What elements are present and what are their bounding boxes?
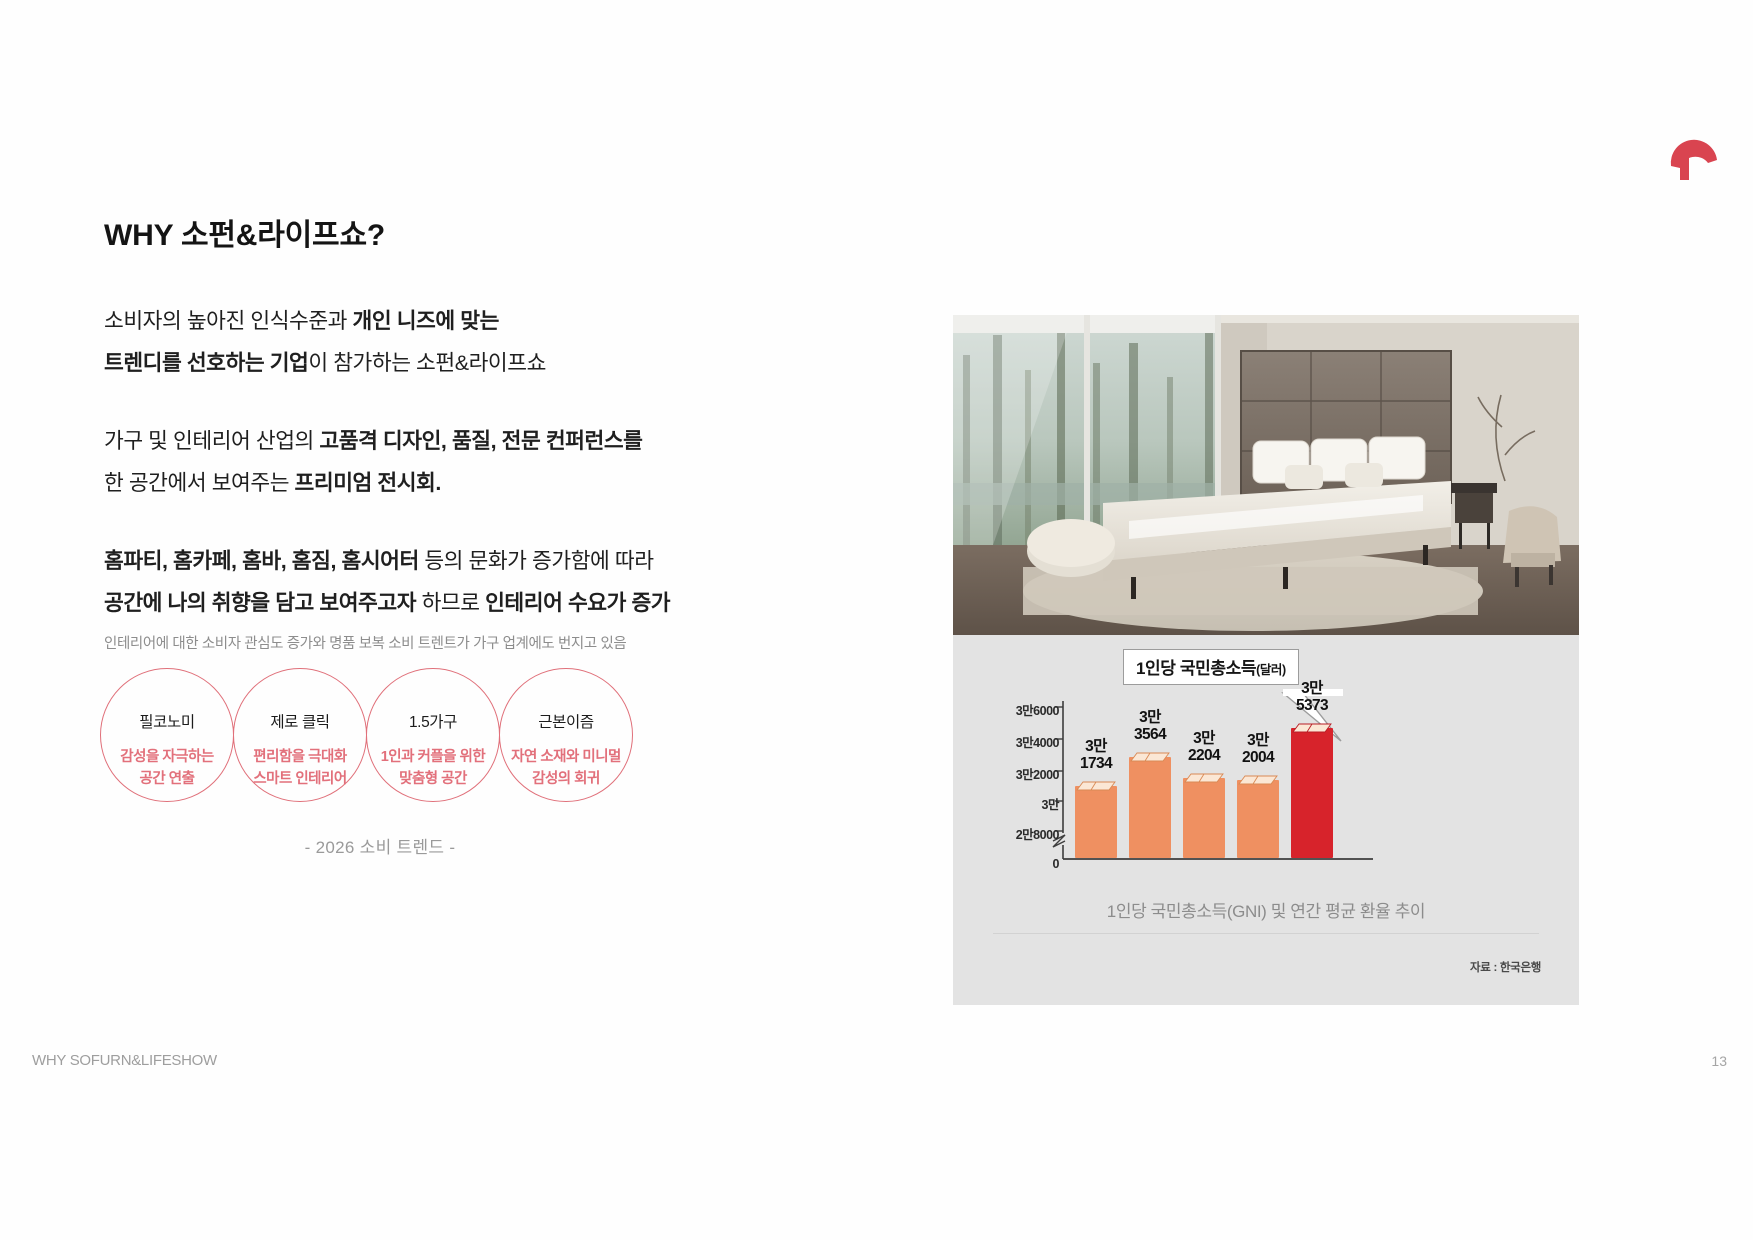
p3l2-bold-a: 공간에 나의 취향을 담고 보여주고자 xyxy=(104,591,416,615)
venn-subtext-3: 1인과 커플을 위한 맞춤형 공간 xyxy=(358,746,508,790)
body-subnote: 인테리어에 대한 소비자 관심도 증가와 명품 보복 소비 트렌트가 가구 업계… xyxy=(104,632,626,653)
venn-subtext-1-line-1: 감성을 자극하는 xyxy=(92,746,242,768)
p2l1-bold: 고품격 디자인, 품질, 전문 컨퍼런스를 xyxy=(319,429,642,453)
y-tick-zero: 0 xyxy=(1053,857,1059,871)
p1l2-bold: 트렌디를 선호하는 기업 xyxy=(104,351,308,375)
bedroom-interior-photo xyxy=(953,315,1579,635)
bar-1-value: 3만 1734 xyxy=(1080,738,1112,772)
venn-subtext-1-line-2: 공간 연출 xyxy=(92,768,242,790)
brand-logo-icon xyxy=(1663,122,1725,184)
venn-subtext-2: 편리함을 극대화 스마트 인테리어 xyxy=(225,746,375,790)
p3l2-plain: 하므로 xyxy=(416,591,485,615)
bar-1-value-line2: 1734 xyxy=(1080,755,1112,772)
paragraph-2-line-2: 한 공간에서 보여주는 프리미엄 전시회. xyxy=(104,462,643,504)
venn-subtext-4-line-1: 자연 소재와 미니멀 xyxy=(491,746,641,768)
p3l1-plain: 등의 문화가 증가함에 따라 xyxy=(419,549,654,573)
venn-subtext-4-line-2: 감성의 회귀 xyxy=(491,768,641,790)
bar-5-value: 3만 5373 xyxy=(1296,680,1328,714)
body-paragraph-1: 소비자의 높아진 인식수준과 개인 니즈에 맞는 트렌디를 선호하는 기업이 참… xyxy=(104,300,546,384)
p2l2-bold: 프리미엄 전시회. xyxy=(295,471,441,495)
y-tick-32000: 3만2000 xyxy=(1016,764,1059,783)
bar-5-cap xyxy=(1291,721,1333,732)
bar-3-value-line1: 3만 xyxy=(1188,730,1220,747)
y-tick-36000: 3만6000 xyxy=(1016,700,1059,719)
bar-4-value-line1: 3만 xyxy=(1242,732,1274,749)
footer-section-label: WHY SOFURN&LIFESHOW xyxy=(32,1052,217,1069)
bar-1-value-line1: 3만 xyxy=(1080,738,1112,755)
bar-5-body xyxy=(1291,728,1333,858)
chart-bars: 3만 1734 3만 3564 xyxy=(1065,690,1355,858)
venn-subtext-3-line-2: 맞춤형 공간 xyxy=(358,768,508,790)
venn-subtext-4: 자연 소재와 미니멀 감성의 회귀 xyxy=(491,746,641,790)
body-paragraph-3: 홈파티, 홈카페, 홈바, 홈짐, 홈시어터 등의 문화가 증가함에 따라 공간… xyxy=(104,540,670,624)
y-tick-34000: 3만4000 xyxy=(1016,732,1059,751)
bar-3-body xyxy=(1183,778,1225,858)
bar-4-value: 3만 2004 xyxy=(1242,732,1274,766)
bar-2-value: 3만 3564 xyxy=(1134,709,1166,743)
bar-2-value-line2: 3564 xyxy=(1134,726,1166,743)
venn-label-2: 제로 클릭 xyxy=(233,710,367,732)
venn-subtext-2-line-2: 스마트 인테리어 xyxy=(225,768,375,790)
venn-subtext-1: 감성을 자극하는 공간 연출 xyxy=(92,746,242,790)
chart-title-callout: 1인당 국민총소득(달러) xyxy=(1123,649,1299,685)
bar-5-value-line2: 5373 xyxy=(1296,697,1328,714)
bar-4-body xyxy=(1237,780,1279,858)
p1l1-plain: 소비자의 높아진 인식수준과 xyxy=(104,309,353,333)
bar-2-body xyxy=(1129,757,1171,858)
paragraph-3-line-1: 홈파티, 홈카페, 홈바, 홈짐, 홈시어터 등의 문화가 증가함에 따라 xyxy=(104,540,670,582)
bar-3-value-line2: 2204 xyxy=(1188,747,1220,764)
bar-3-cap xyxy=(1183,771,1225,782)
venn-label-1: 필코노미 xyxy=(100,710,234,732)
panel-divider xyxy=(993,933,1539,934)
chart-title-unit: (달러) xyxy=(1256,663,1286,677)
page-title: WHY 소펀&라이프쇼? xyxy=(104,210,385,254)
body-paragraph-2: 가구 및 인테리어 산업의 고품격 디자인, 품질, 전문 컨퍼런스를 한 공간… xyxy=(104,420,643,504)
bar-2-value-line1: 3만 xyxy=(1134,709,1166,726)
gni-bar-chart: 1인당 국민총소득(달러) xyxy=(953,637,1579,890)
trend-venn-diagram: 필코노미 제로 클릭 1.5가구 근본이즘 감성을 자극하는 공간 연출 편리함… xyxy=(100,668,660,830)
bar-4-value-line2: 2004 xyxy=(1242,749,1274,766)
paragraph-1-line-2: 트렌디를 선호하는 기업이 참가하는 소펀&라이프쇼 xyxy=(104,342,546,384)
chart-caption: 1인당 국민총소득(GNI) 및 연간 평균 환율 추이 xyxy=(953,897,1579,922)
paragraph-2-line-1: 가구 및 인테리어 산업의 고품격 디자인, 품질, 전문 컨퍼런스를 xyxy=(104,420,643,462)
bar-4-cap xyxy=(1237,773,1279,784)
p3l2-bold-b: 인테리어 수요가 증가 xyxy=(485,591,670,615)
paragraph-1-line-1: 소비자의 높아진 인식수준과 개인 니즈에 맞는 xyxy=(104,300,546,342)
venn-subtext-2-line-1: 편리함을 극대화 xyxy=(225,746,375,768)
bar-5-value-line1: 3만 xyxy=(1296,680,1328,697)
p2l2-plain: 한 공간에서 보여주는 xyxy=(104,471,295,495)
bar-1-body xyxy=(1075,786,1117,858)
right-panel: 1인당 국민총소득(달러) xyxy=(953,315,1579,1005)
p1l2-plain: 이 참가하는 소펀&라이프쇼 xyxy=(308,351,546,375)
venn-subtext-3-line-1: 1인과 커플을 위한 xyxy=(358,746,508,768)
venn-label-3: 1.5가구 xyxy=(366,710,500,732)
chart-source-label: 자료 : 한국은행 xyxy=(1470,959,1541,975)
venn-caption: - 2026 소비 트렌드 - xyxy=(100,833,660,858)
p1l1-bold: 개인 니즈에 맞는 xyxy=(353,309,499,333)
p3l1-bold: 홈파티, 홈카페, 홈바, 홈짐, 홈시어터 xyxy=(104,549,419,573)
paragraph-3-line-2: 공간에 나의 취향을 담고 보여주고자 하므로 인테리어 수요가 증가 xyxy=(104,582,670,624)
chart-title-text: 1인당 국민총소득 xyxy=(1136,659,1256,678)
y-tick-30000: 3만 xyxy=(1042,794,1059,813)
venn-label-4: 근본이즘 xyxy=(499,710,633,732)
bar-1-cap xyxy=(1075,779,1117,790)
page-number: 13 xyxy=(1711,1053,1727,1069)
y-tick-28000: 2만8000 xyxy=(1016,824,1059,843)
p2l1-plain: 가구 및 인테리어 산업의 xyxy=(104,429,319,453)
slide-canvas: WHY 소펀&라이프쇼? 소비자의 높아진 인식수준과 개인 니즈에 맞는 트렌… xyxy=(0,0,1753,1240)
bar-2-cap xyxy=(1129,750,1171,761)
bar-3-value: 3만 2204 xyxy=(1188,730,1220,764)
